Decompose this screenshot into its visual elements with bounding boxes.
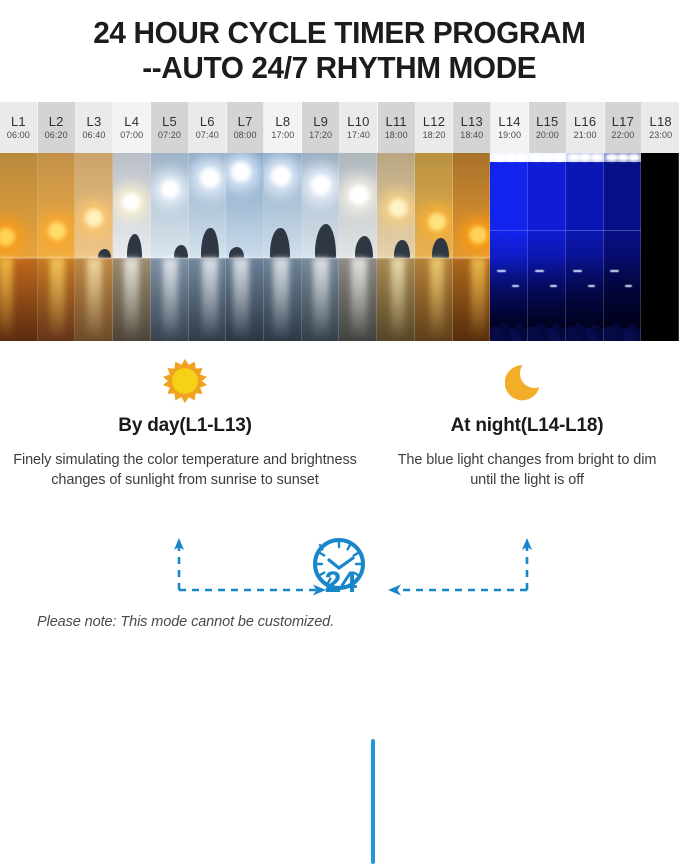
scene-segment-l6 (189, 153, 227, 341)
timeline-label: L8 (275, 115, 290, 128)
timeline-time: 19:00 (498, 131, 521, 140)
scene-segment-l9 (302, 153, 340, 341)
timeline-cell-l18[interactable]: L1823:00 (642, 102, 679, 153)
section-divider (371, 739, 375, 864)
title-line-1: 24 HOUR CYCLE TIMER PROGRAM (93, 16, 585, 49)
moon-icon (384, 355, 670, 407)
timeline-time: 07:20 (158, 131, 181, 140)
timeline-label: L14 (498, 115, 520, 128)
scene-segment-l1 (0, 153, 38, 341)
timeline-label: L1 (11, 115, 26, 128)
timeline-label: L17 (612, 115, 634, 128)
timeline-time: 17:20 (309, 131, 332, 140)
timeline-label: L10 (347, 115, 369, 128)
scene-segment-l5 (151, 153, 189, 341)
timeline-time: 17:00 (271, 131, 294, 140)
timeline-cell-l8[interactable]: L817:00 (264, 102, 302, 153)
cycle-diagram: 24 (0, 526, 679, 601)
timeline-label: L18 (650, 115, 672, 128)
timeline-time: 21:00 (574, 131, 597, 140)
timeline-label: L4 (124, 115, 139, 128)
day-heading: By day(L1-L13) (10, 415, 360, 437)
timeline-label: L16 (574, 115, 596, 128)
timeline-time: 06:00 (7, 131, 30, 140)
timeline-cell-l11[interactable]: L1118:00 (378, 102, 416, 153)
clock-24-icon: 24 (302, 534, 376, 601)
timeline-cell-l10[interactable]: L1017:40 (340, 102, 378, 153)
scene-segment-l7 (226, 153, 264, 341)
timeline-time: 20:00 (536, 131, 559, 140)
timeline-cell-l9[interactable]: L917:20 (302, 102, 340, 153)
scene-segment-l8 (264, 153, 302, 341)
scene-segment-l16 (566, 153, 604, 341)
sun-icon (10, 355, 360, 407)
scene-segment-l13 (453, 153, 491, 341)
timeline-time: 23:00 (649, 131, 672, 140)
timeline-cell-l2[interactable]: L206:20 (38, 102, 76, 153)
timeline-label: L11 (386, 115, 407, 128)
timeline-cell-l17[interactable]: L1722:00 (605, 102, 643, 153)
timeline-time: 07:40 (196, 131, 219, 140)
timeline-cell-l7[interactable]: L708:00 (227, 102, 265, 153)
timeline-label: L9 (313, 115, 328, 128)
timeline-label: L15 (536, 115, 558, 128)
timeline-time: 07:00 (120, 131, 143, 140)
timeline-label: L7 (238, 115, 253, 128)
scene-segment-l12 (415, 153, 453, 341)
timeline-header: L106:00L206:20L306:40L407:00L507:20L607:… (0, 102, 679, 153)
timeline-cell-l3[interactable]: L306:40 (76, 102, 114, 153)
night-heading: At night(L14-L18) (384, 415, 670, 437)
night-column: At night(L14-L18) The blue light changes… (384, 355, 670, 490)
timeline-time: 18:00 (385, 131, 408, 140)
cycle-value: 24 (325, 568, 356, 598)
timeline-cell-l4[interactable]: L407:00 (113, 102, 151, 153)
timeline-time: 06:40 (82, 131, 105, 140)
timeline-time: 17:40 (347, 131, 370, 140)
timeline-cell-l14[interactable]: L1419:00 (491, 102, 529, 153)
explanation-section: By day(L1-L13) Finely simulating the col… (0, 341, 679, 526)
timeline-cell-l1[interactable]: L106:00 (0, 102, 38, 153)
timeline-cell-l6[interactable]: L607:40 (189, 102, 227, 153)
title-line-2: --AUTO 24/7 RHYTHM MODE (142, 51, 536, 84)
scene-segment-l18 (641, 153, 679, 341)
page-title: 24 HOUR CYCLE TIMER PROGRAM --AUTO 24/7 … (0, 0, 679, 100)
scene-segment-l11 (377, 153, 415, 341)
timeline-time: 18:20 (422, 131, 445, 140)
day-column: By day(L1-L13) Finely simulating the col… (10, 355, 360, 490)
timeline-label: L12 (423, 115, 445, 128)
timeline-label: L6 (200, 115, 215, 128)
scene-segment-l10 (339, 153, 377, 341)
timeline-label: L3 (87, 115, 102, 128)
timeline-cell-l5[interactable]: L507:20 (151, 102, 189, 153)
scene-segment-l2 (38, 153, 76, 341)
scene-segment-l14 (490, 153, 528, 341)
timeline-cell-l16[interactable]: L1621:00 (567, 102, 605, 153)
day-description: Finely simulating the color temperature … (10, 450, 360, 490)
timeline-time: 22:00 (611, 131, 634, 140)
timeline-cell-l12[interactable]: L1218:20 (416, 102, 454, 153)
scene-strip (0, 153, 679, 341)
timeline-cell-l13[interactable]: L1318:40 (453, 102, 491, 153)
scene-segment-l15 (528, 153, 566, 341)
timeline-cell-l15[interactable]: L1520:00 (529, 102, 567, 153)
timeline-label: L13 (461, 115, 483, 128)
timeline-time: 18:40 (460, 131, 483, 140)
note-text: Please note: This mode cannot be customi… (37, 614, 334, 630)
scene-segment-l17 (604, 153, 642, 341)
timeline-time: 08:00 (234, 131, 257, 140)
timeline-label: L5 (162, 115, 177, 128)
page-root: 24 HOUR CYCLE TIMER PROGRAM --AUTO 24/7 … (0, 0, 679, 636)
scene-segment-l3 (75, 153, 113, 341)
timeline-label: L2 (49, 115, 64, 128)
night-description: The blue light changes from bright to di… (384, 450, 670, 490)
scene-segment-l4 (113, 153, 151, 341)
timeline-time: 06:20 (45, 131, 68, 140)
